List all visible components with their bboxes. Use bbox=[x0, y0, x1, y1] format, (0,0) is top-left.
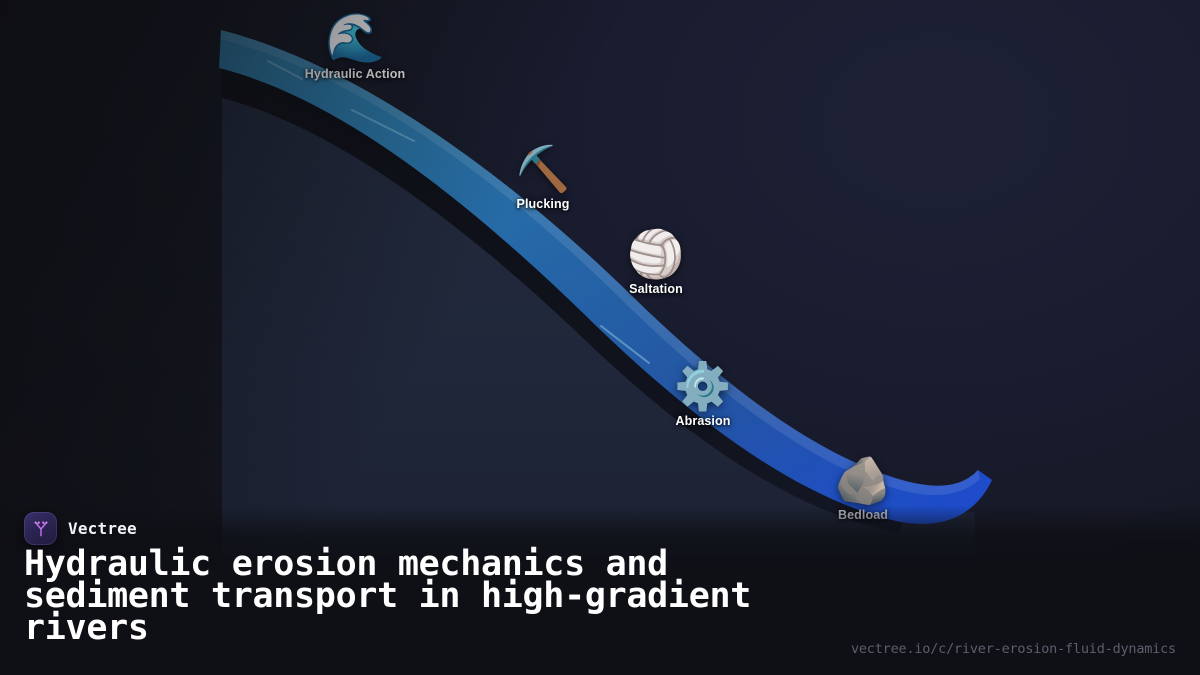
page-title: Hydraulic erosion mechanics and sediment… bbox=[24, 548, 824, 644]
vectree-tree-logo-icon bbox=[24, 512, 57, 545]
source-url: vectree.io/c/river-erosion-fluid-dynamic… bbox=[851, 641, 1176, 657]
brand-lockup[interactable]: Vectree bbox=[24, 512, 137, 545]
screenshot-canvas: 🌊 Hydraulic Action ⛏️ Plucking 🏐 Saltati… bbox=[0, 0, 1200, 675]
brand-name: Vectree bbox=[68, 519, 137, 538]
